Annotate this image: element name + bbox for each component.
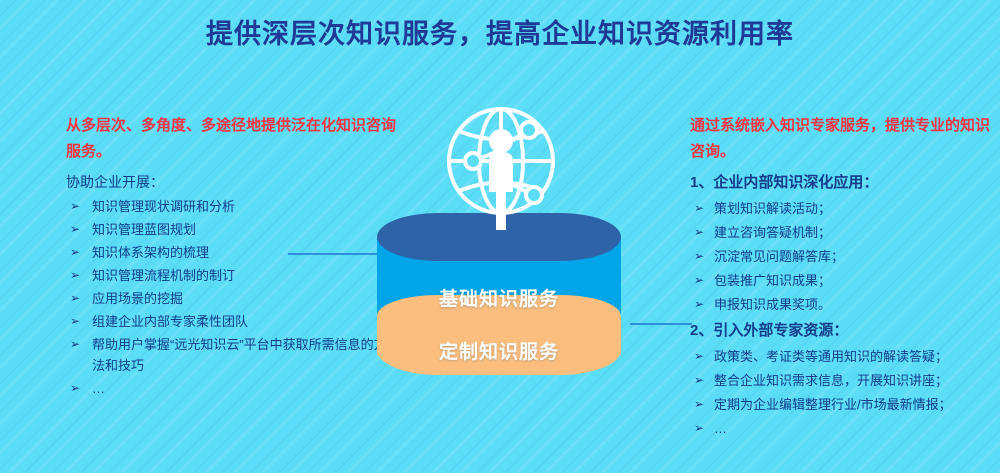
list-item: ➢ 应用场景的挖掘 <box>66 288 396 309</box>
slide-canvas: 提供深层次知识服务，提高企业知识资源利用率 从多层次、多角度、多途径地提供泛在化… <box>0 0 1000 473</box>
list-item: ➢ … <box>690 418 995 439</box>
arrow-bullet-icon: ➢ <box>694 418 704 439</box>
right-section-1-list: ➢ 策划知识解读活动； ➢ 建立咨询答疑机制； ➢ 沉淀常见问题解答库； ➢ 包… <box>690 198 995 315</box>
arrow-bullet-icon: ➢ <box>694 294 704 315</box>
left-lead-text: 从多层次、多角度、多途径地提供泛在化知识咨询服务。 <box>66 113 396 165</box>
left-subheading: 协助企业开展： <box>66 170 396 194</box>
arrow-bullet-icon: ➢ <box>694 222 704 243</box>
list-item-label: 定期为企业编辑整理行业/市场最新情报； <box>714 394 995 415</box>
list-item: ➢ 沉淀常见问题解答库； <box>690 246 995 267</box>
list-item-label: 包装推广知识成果； <box>714 270 995 291</box>
left-bullet-list: ➢ 知识管理现状调研和分析 ➢ 知识管理蓝图规划 ➢ 知识体系架构的梳理 ➢ 知… <box>66 196 396 399</box>
list-item-label: 应用场景的挖掘 <box>92 288 396 309</box>
list-item: ➢ 政策类、考证类等通用知识的解读答疑； <box>690 346 995 367</box>
list-item-label: 申报知识成果奖项。 <box>714 294 995 315</box>
list-item-label: 知识管理现状调研和分析 <box>92 196 396 217</box>
list-item: ➢ 知识管理蓝图规划 <box>66 219 396 240</box>
right-section-2-list: ➢ 政策类、考证类等通用知识的解读答疑； ➢ 整合企业知识需求信息，开展知识讲座… <box>690 346 995 439</box>
list-item: ➢ 定期为企业编辑整理行业/市场最新情报； <box>690 394 995 415</box>
arrow-bullet-icon: ➢ <box>694 198 704 219</box>
list-item-label: 建立咨询答疑机制； <box>714 222 995 243</box>
list-item: ➢ 知识管理流程机制的制订 <box>66 265 396 286</box>
arrow-bullet-icon: ➢ <box>70 378 80 399</box>
list-item-label: 帮助用户掌握“远光知识云”平台中获取所需信息的方法和技巧 <box>92 334 396 376</box>
right-lead-text: 通过系统嵌入知识专家服务，提供专业的知识咨询。 <box>690 113 995 165</box>
list-item-label: 知识管理流程机制的制订 <box>92 265 396 286</box>
list-item-label: 沉淀常见问题解答库； <box>714 246 995 267</box>
list-item: ➢ 申报知识成果奖项。 <box>690 294 995 315</box>
arrow-bullet-icon: ➢ <box>70 265 80 286</box>
right-column: 通过系统嵌入知识专家服务，提供专业的知识咨询。 1、企业内部知识深化应用： ➢ … <box>690 113 995 442</box>
arrow-bullet-icon: ➢ <box>70 242 80 263</box>
left-column: 从多层次、多角度、多途径地提供泛在化知识咨询服务。 协助企业开展： ➢ 知识管理… <box>66 113 396 401</box>
arrow-bullet-icon: ➢ <box>694 370 704 391</box>
list-item-label: 组建企业内部专家柔性团队 <box>92 311 396 332</box>
arrow-bullet-icon: ➢ <box>694 246 704 267</box>
list-item: ➢ 整合企业知识需求信息，开展知识讲座； <box>690 370 995 391</box>
list-item-label: 策划知识解读活动； <box>714 198 995 219</box>
arrow-bullet-icon: ➢ <box>70 288 80 309</box>
arrow-bullet-icon: ➢ <box>694 270 704 291</box>
right-section-1-heading: 1、企业内部知识深化应用： <box>690 170 995 196</box>
list-item: ➢ 包装推广知识成果； <box>690 270 995 291</box>
list-item-label: … <box>92 378 396 399</box>
list-item-label: 知识管理蓝图规划 <box>92 219 396 240</box>
page-title: 提供深层次知识服务，提高企业知识资源利用率 <box>0 18 1000 50</box>
list-item: ➢ 建立咨询答疑机制； <box>690 222 995 243</box>
globe-person-icon <box>438 98 564 238</box>
connector-line-right <box>630 323 692 325</box>
arrow-bullet-icon: ➢ <box>70 219 80 240</box>
cylinder-label-custom: 定制知识服务 <box>377 337 621 364</box>
list-item: ➢ 策划知识解读活动； <box>690 198 995 219</box>
cylinder-label-basic: 基础知识服务 <box>377 284 621 311</box>
arrow-bullet-icon: ➢ <box>70 334 80 355</box>
connector-line-left <box>288 253 386 255</box>
list-item-label: 整合企业知识需求信息，开展知识讲座； <box>714 370 995 391</box>
arrow-bullet-icon: ➢ <box>70 311 80 332</box>
list-item-label: … <box>714 418 995 439</box>
list-item-label: 政策类、考证类等通用知识的解读答疑； <box>714 346 995 367</box>
list-item: ➢ 知识管理现状调研和分析 <box>66 196 396 217</box>
arrow-bullet-icon: ➢ <box>694 394 704 415</box>
right-section-2-heading: 2、引入外部专家资源： <box>690 318 995 344</box>
arrow-bullet-icon: ➢ <box>694 346 704 367</box>
list-item: ➢ 帮助用户掌握“远光知识云”平台中获取所需信息的方法和技巧 <box>66 334 396 376</box>
list-item: ➢ … <box>66 378 396 399</box>
list-item: ➢ 组建企业内部专家柔性团队 <box>66 311 396 332</box>
arrow-bullet-icon: ➢ <box>70 196 80 217</box>
